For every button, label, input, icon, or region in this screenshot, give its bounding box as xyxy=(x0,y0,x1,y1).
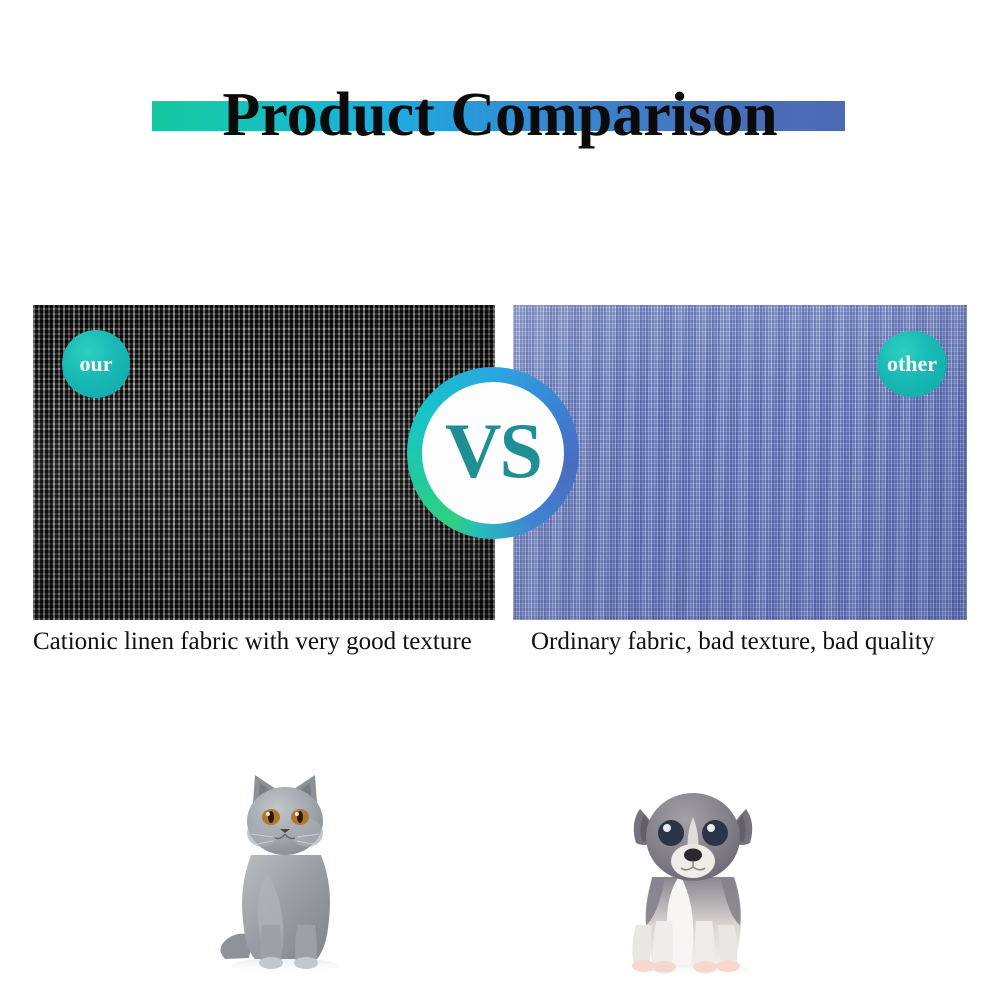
gray-cat-photo xyxy=(205,763,365,978)
dog-eye-right xyxy=(702,820,728,846)
dog-eye-glint-left xyxy=(663,824,671,832)
dog-paw-3 xyxy=(693,961,717,973)
dog-eye-left xyxy=(658,820,684,846)
vs-medallion: VS xyxy=(407,367,579,539)
dog-front-leg-left xyxy=(653,921,673,965)
our-badge: our xyxy=(62,330,130,398)
cat-eye-glint-left xyxy=(266,812,270,816)
cat-ground-shadow xyxy=(231,958,339,974)
dog-nose xyxy=(684,849,702,862)
dog-paw-4 xyxy=(716,960,740,972)
vs-medallion-inner: VS xyxy=(422,382,564,524)
vs-label: VS xyxy=(445,412,541,490)
other-badge: other xyxy=(877,331,947,397)
dog-paw-2 xyxy=(652,961,676,973)
cat-paw-left xyxy=(259,957,283,969)
cat-body xyxy=(242,855,330,959)
cat-eye-glint-right xyxy=(295,812,299,816)
dog-hind-leg-right xyxy=(718,925,738,965)
dog-eye-glint-right xyxy=(707,824,715,832)
chihuahua-puppy-photo xyxy=(600,775,785,980)
dog-hind-leg-left xyxy=(632,925,652,965)
cat-paw-right xyxy=(294,957,318,969)
dog-front-leg-right xyxy=(695,921,715,965)
